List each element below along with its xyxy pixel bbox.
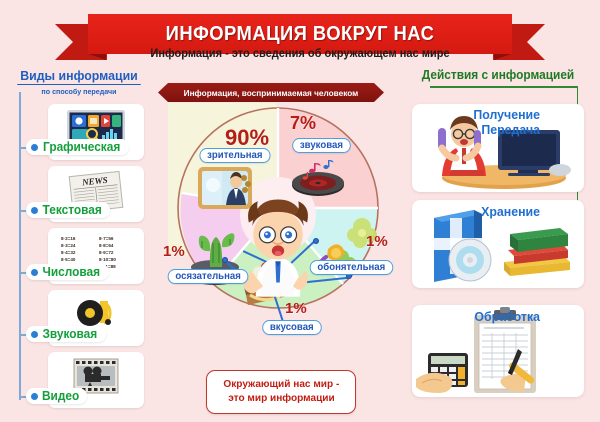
left-panel-heading: Виды информации: [17, 68, 141, 85]
page-subtitle: Информация - это сведения об окружающем …: [12, 48, 588, 60]
bottom-caption-line1: Окружающий нас мир -: [223, 378, 339, 392]
right-item-label-line1: Обработка: [426, 310, 540, 325]
bullet-dot-icon: [31, 393, 38, 400]
pie-label-visual[interactable]: зрительная: [199, 148, 270, 163]
right-label-receive-transmit: Получение Передача: [426, 108, 540, 137]
pie-value-taste: 1%: [285, 300, 307, 317]
left-item-label: Звуковая: [42, 327, 97, 341]
boy-character-icon: [240, 185, 316, 297]
left-item-label: Графическая: [43, 140, 120, 154]
infographic-poster: ИНФОРМАЦИЯ ВОКРУГ НАС Информация - это с…: [0, 0, 600, 422]
pie-value-touch: 1%: [163, 243, 185, 260]
left-connector-spine: [19, 92, 21, 400]
pie-value-smell: 1%: [366, 233, 388, 250]
left-panel-subheading: по способу передачи: [17, 87, 141, 96]
pie-label-touch[interactable]: осязательная: [168, 269, 249, 284]
page-title: ИНФОРМАЦИЯ ВОКРУГ НАС: [166, 23, 435, 46]
left-label-video[interactable]: Видео: [26, 388, 87, 404]
left-item-label: Числовая: [43, 265, 101, 279]
pie-value-audio: 7%: [290, 113, 316, 134]
bullet-dot-icon: [31, 144, 38, 151]
pie-label-taste[interactable]: вкусовая: [262, 320, 321, 335]
bottom-caption-line2: это мир информации: [228, 392, 334, 406]
right-panel-header: Действия с информацией: [400, 68, 596, 82]
right-item-label-line2: Передача: [426, 123, 540, 138]
left-label-numeric[interactable]: Числовая: [26, 264, 109, 280]
right-label-processing: Обработка: [426, 310, 540, 325]
senses-pie-chart: 90% 7% 1% 1% 1% зрительная звуковая обон…: [168, 103, 388, 318]
bullet-dot-icon: [31, 207, 38, 214]
left-item-label: Видео: [42, 389, 79, 403]
multiplication-table-icon: 8·2=16 8·3=24 8·4=32 8·5=40 8·6=48 8·7=5…: [61, 231, 131, 265]
right-item-label-line1: Хранение: [426, 205, 540, 220]
center-banner: Информация, воспринимаемая человеком: [158, 83, 384, 102]
right-label-storage: Хранение: [426, 205, 540, 220]
left-label-audio[interactable]: Звуковая: [26, 326, 106, 342]
pie-label-smell[interactable]: обонятельная: [310, 260, 393, 275]
right-panel-heading: Действия с информацией: [405, 68, 591, 82]
pie-label-audio[interactable]: звуковая: [292, 138, 350, 153]
left-label-graphic[interactable]: Графическая: [26, 139, 129, 155]
left-panel-header: Виды информации по способу передачи: [14, 68, 144, 96]
right-connector-top: [430, 86, 578, 88]
bullet-dot-icon: [31, 331, 38, 338]
left-label-text[interactable]: Текстовая: [26, 202, 110, 218]
bullet-dot-icon: [31, 269, 38, 276]
ray-node-hand: [222, 257, 228, 263]
bottom-caption: Окружающий нас мир - это мир информации: [206, 370, 356, 414]
right-item-label-line1: Получение: [426, 108, 540, 123]
left-item-label: Текстовая: [43, 203, 102, 217]
center-banner-label: Информация, воспринимаемая человеком: [184, 88, 359, 98]
